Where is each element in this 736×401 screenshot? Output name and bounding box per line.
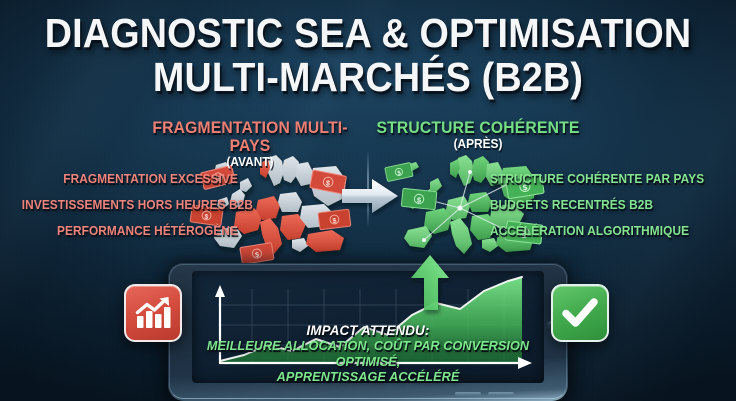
list-item: STRUCTURE COHÉRENTE PAR PAYS	[490, 166, 714, 192]
svg-text:$: $	[332, 218, 337, 225]
banknote-green-2: $	[401, 189, 437, 215]
title-line-2: MULTI-MARCHÉS (B2B)	[29, 55, 706, 99]
list-item: BUDGETS RECENTRÉS B2B	[490, 192, 714, 218]
title-line-1: DIAGNOSTIC SEA & OPTIMISATION	[29, 11, 706, 55]
tablet-button-left[interactable]	[455, 392, 481, 396]
before-column-heading: FRAGMENTATION MULTI-PAYS (AVANT)	[130, 119, 370, 170]
right-arrow-icon	[338, 176, 402, 216]
after-bullet-list: STRUCTURE COHÉRENTE PAR PAYS BUDGETS REC…	[490, 166, 728, 244]
list-item: ACCÉLÉRATION ALGORITHMIQUE	[490, 218, 714, 244]
before-heading-text: FRAGMENTATION MULTI-PAYS	[136, 119, 364, 155]
infographic-poster: DIAGNOSTIC SEA & OPTIMISATION MULTI-MARC…	[0, 0, 736, 401]
check-mark-icon[interactable]	[551, 284, 609, 342]
impact-caption: IMPACT ATTENDU: MEILLEURE ALLOCATION, CO…	[190, 322, 546, 385]
list-item: PERFORMANCE HÉTÉROGÈNE	[22, 218, 238, 244]
after-subheading-text: (APRÈS)	[364, 137, 592, 152]
list-item: INVESTISSEMENTS HORS HEURES B2B	[22, 192, 238, 218]
before-bullet-list: FRAGMENTATION EXCESSIVE INVESTISSEMENTS …	[8, 166, 238, 244]
bar-chart-growth-icon[interactable]	[124, 284, 182, 342]
impact-title: IMPACT ATTENDU:	[199, 322, 537, 338]
check-mark-glyph	[562, 298, 598, 328]
after-heading-text: STRUCTURE COHÉRENTE	[364, 119, 592, 137]
impact-line-1: MEILLEURE ALLOCATION, COÛT PAR CONVERSIO…	[199, 338, 537, 369]
page-title: DIAGNOSTIC SEA & OPTIMISATION MULTI-MARC…	[0, 11, 736, 99]
impact-line-2: APPRENTISSAGE ACCÉLÉRÉ	[199, 369, 537, 385]
after-column-heading: STRUCTURE COHÉRENTE (APRÈS)	[358, 119, 598, 152]
list-item: FRAGMENTATION EXCESSIVE	[22, 166, 238, 192]
bar-chart-growth-glyph	[134, 295, 172, 331]
tablet-button-right[interactable]	[488, 392, 514, 396]
